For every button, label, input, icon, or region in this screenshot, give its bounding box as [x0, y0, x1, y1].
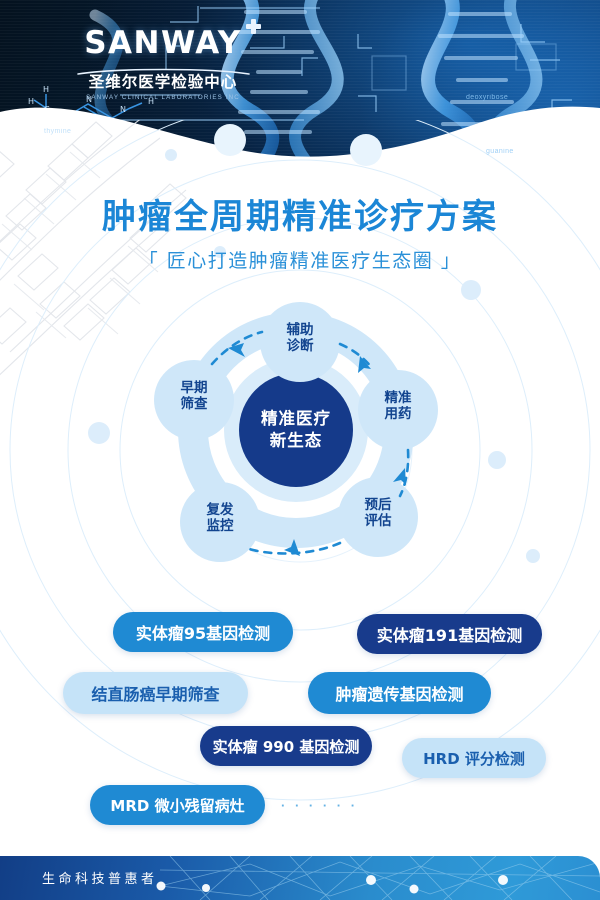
pill-colorectal-early-screening[interactable]: 结直肠癌早期筛查 [63, 672, 248, 714]
title-block: 肿瘤全周期精准诊疗方案 「 匠心打造肿瘤精准医疗生态圈 」 [0, 198, 600, 273]
dna-label-deoxyribose: deoxyribose [466, 94, 508, 101]
pill-hereditary-tumor-gene[interactable]: 肿瘤遗传基因检测 [308, 672, 491, 714]
node-label-auxiliary-diagnosis: 辅助 诊断 [265, 322, 335, 355]
node-label-line2: 诊断 [265, 338, 335, 354]
node-label-line2: 用药 [363, 406, 433, 422]
brand-wordmark: SANWAY [84, 28, 242, 59]
brand-name-en: SANWAY CLINICAL LABORATORIES INC [48, 94, 278, 101]
precision-medicine-cycle-diagram: 辅助 诊断 精准 用药 预后 评估 复发 监控 早期 筛查 精准医疗 新生态 [150, 300, 450, 590]
brand-logo: SANWAY 圣维尔医学检验中心 SANWAY CLINICAL LABORAT… [48, 28, 278, 101]
ellipsis-more-indicator: · · · · · · [281, 798, 358, 813]
page-subtitle: 「 匠心打造肿瘤精准医疗生态圈 」 [0, 246, 600, 273]
pill-solid-tumor-191[interactable]: 实体瘤191基因检测 [357, 614, 542, 654]
pill-solid-tumor-95[interactable]: 实体瘤95基因检测 [113, 612, 293, 652]
core-label-line1: 精准医疗 [246, 408, 346, 430]
brand-name-cn: 圣维尔医学检验中心 [48, 74, 278, 92]
node-label-line2: 评估 [343, 513, 413, 529]
footer-slogan: 生命科技普惠者 [42, 868, 158, 887]
pill-hrd-score[interactable]: HRD 评分检测 [402, 738, 546, 778]
node-label-prognosis-evaluation: 预后 评估 [343, 497, 413, 530]
logo-swoosh-divider [76, 63, 251, 72]
node-label-line1: 复发 [185, 502, 255, 518]
page-title: 肿瘤全周期精准诊疗方案 [0, 198, 600, 237]
dna-label-thymine: thymine [44, 128, 71, 135]
core-label-line2: 新生态 [246, 430, 346, 452]
medical-cross-icon [246, 19, 261, 34]
node-label-line1: 早期 [159, 380, 229, 396]
pill-solid-tumor-990[interactable]: 实体瘤 990 基因检测 [200, 726, 372, 766]
node-label-early-screening: 早期 筛查 [159, 380, 229, 413]
node-label-line2: 监控 [185, 518, 255, 534]
node-label-precision-medication: 精准 用药 [363, 390, 433, 423]
footer-bar: 生命科技普惠者 [0, 856, 600, 900]
brand-wordmark-text: SANWAY [84, 25, 242, 61]
dna-label-guanine: guanine [486, 148, 514, 155]
node-label-line1: 辅助 [265, 322, 335, 338]
node-label-recurrence-monitoring: 复发 监控 [185, 502, 255, 535]
pill-mrd-residual[interactable]: MRD 微小残留病灶 [90, 785, 265, 825]
poster-root: HHH C NN NOH deoxyribose guanine thymine… [0, 0, 600, 900]
cycle-core-label: 精准医疗 新生态 [246, 408, 346, 453]
node-label-line2: 筛查 [159, 396, 229, 412]
node-label-line1: 精准 [363, 390, 433, 406]
node-label-line1: 预后 [343, 497, 413, 513]
